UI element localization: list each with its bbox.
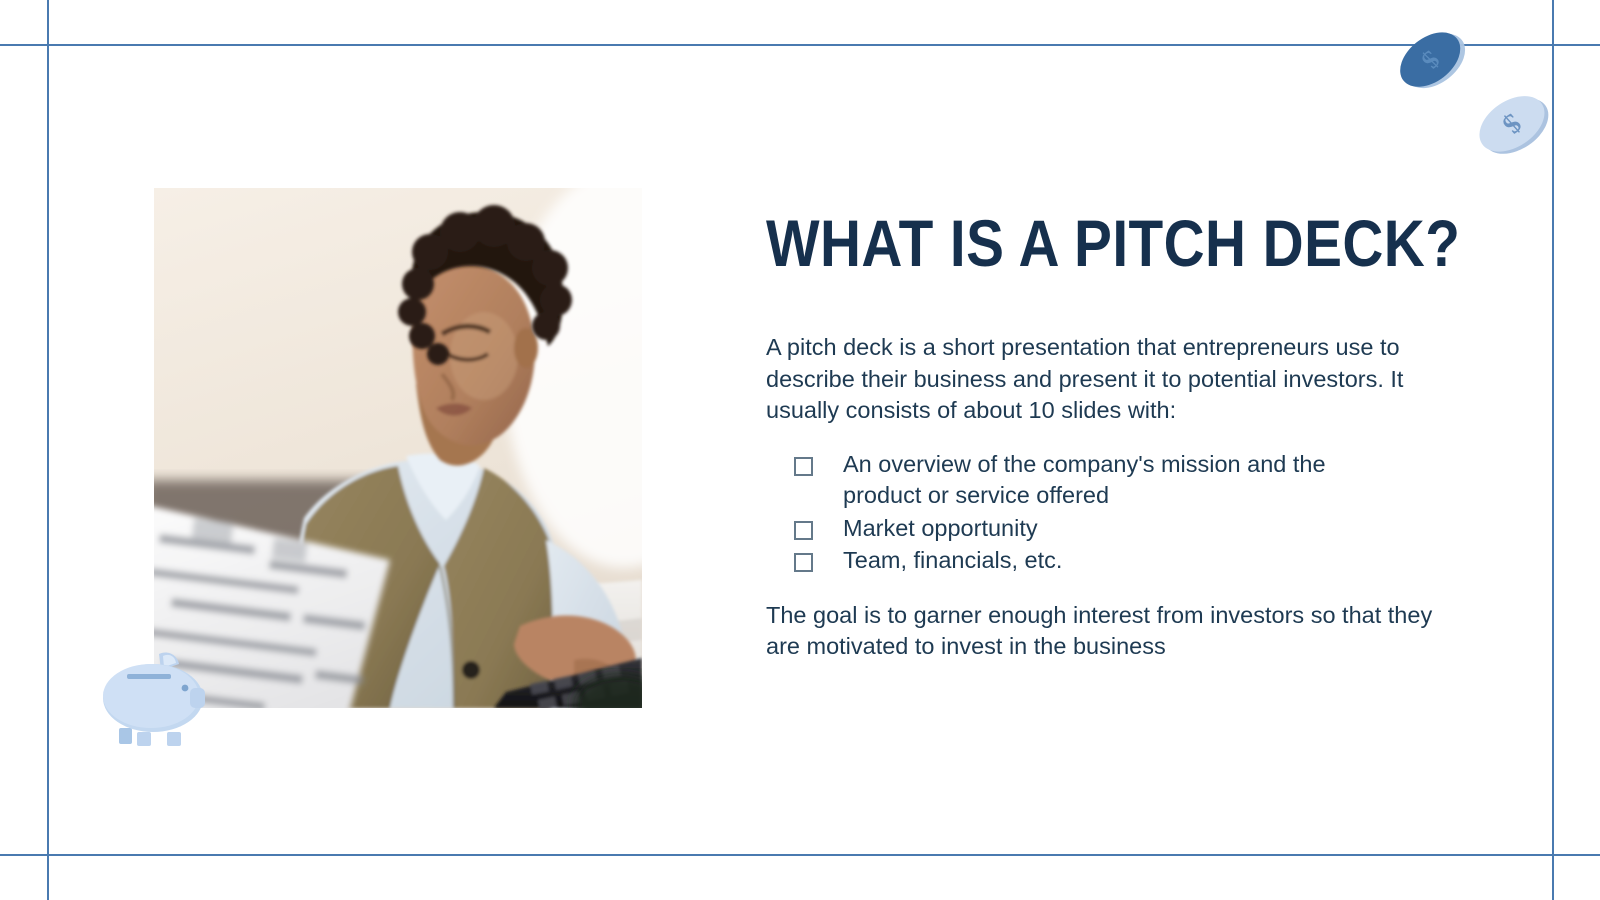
photo-illustration (154, 188, 642, 708)
list-item[interactable]: An overview of the company's mission and… (794, 449, 1456, 512)
intro-paragraph: A pitch deck is a short presentation tha… (766, 332, 1446, 427)
guide-line-top (0, 44, 1600, 46)
paragraph-spacer (766, 427, 1456, 449)
piggy-bank-svg (85, 636, 215, 746)
checkbox-icon[interactable] (794, 521, 813, 540)
list-item[interactable]: Team, financials, etc. (794, 545, 1456, 577)
slide-photo (154, 188, 642, 708)
checklist: An overview of the company's mission and… (794, 449, 1456, 577)
dollar-coin-light-icon: $ (1460, 76, 1570, 176)
slide-text-column: WHAT IS A PITCH DECK? A pitch deck is a … (766, 210, 1456, 663)
list-item-label: Market opportunity (843, 513, 1403, 545)
list-item-label: An overview of the company's mission and… (843, 449, 1403, 512)
piggy-bank-icon (85, 636, 215, 746)
list-item-label: Team, financials, etc. (843, 545, 1403, 577)
checkbox-icon[interactable] (794, 553, 813, 572)
dollar-coin-light-svg: $ (1460, 76, 1570, 171)
guide-line-bottom (0, 854, 1600, 856)
page-title: WHAT IS A PITCH DECK? (766, 210, 1359, 276)
slide-canvas: WHAT IS A PITCH DECK? A pitch deck is a … (0, 0, 1600, 900)
checkbox-icon[interactable] (794, 457, 813, 476)
list-item[interactable]: Market opportunity (794, 513, 1456, 545)
closing-paragraph: The goal is to garner enough interest fr… (766, 600, 1446, 663)
paragraph-spacer (766, 578, 1456, 600)
guide-line-left (47, 0, 49, 900)
